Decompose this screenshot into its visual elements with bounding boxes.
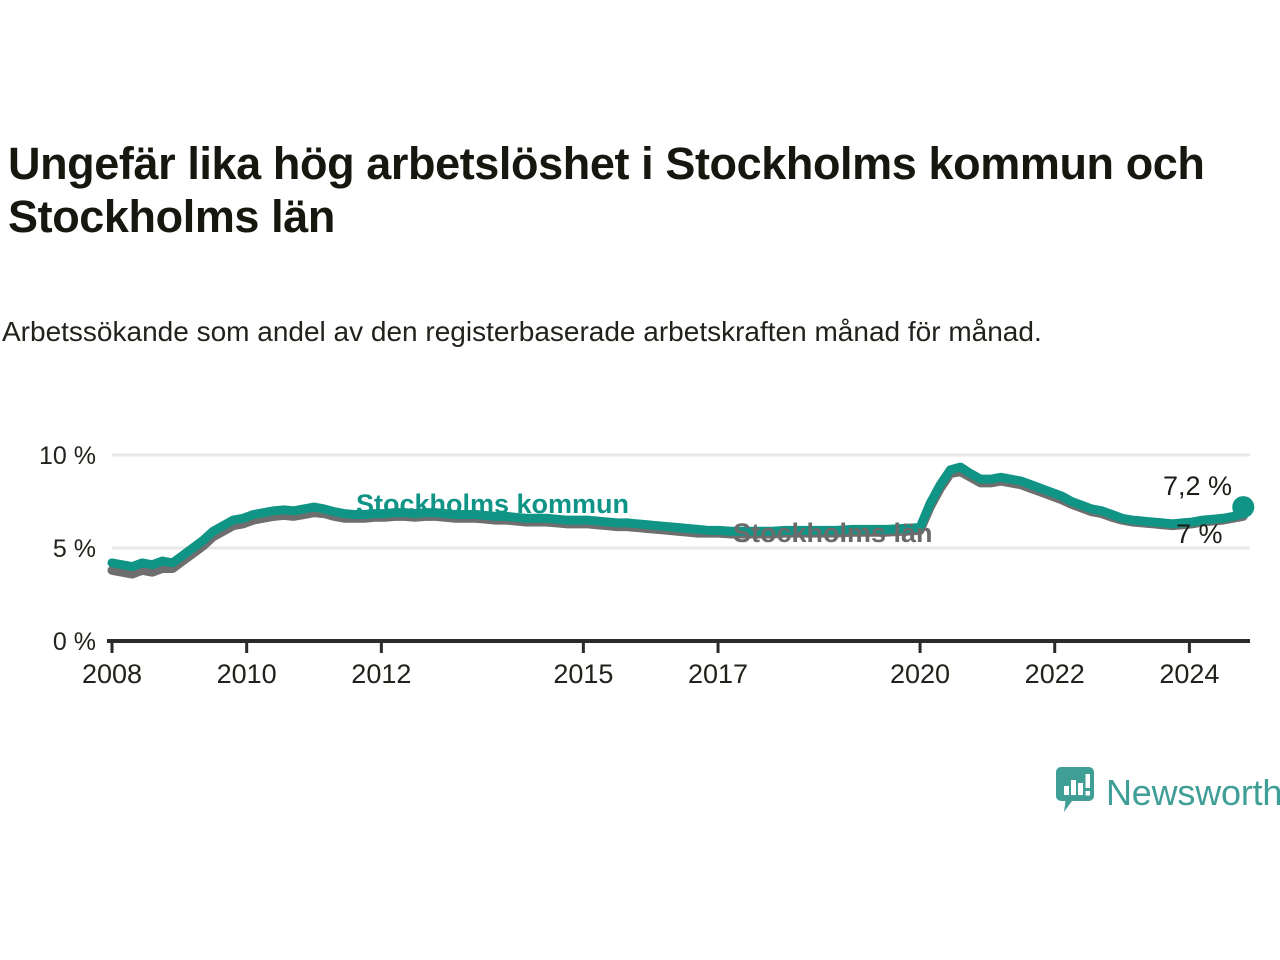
y-axis-labels: 0 %5 %10 % — [39, 442, 96, 656]
chart-plot-area: 0 %5 %10 % 20082010201220152017202020222… — [0, 425, 1280, 695]
chart-page: Ungefär lika hög arbetslöshet i Stockhol… — [0, 0, 1280, 960]
x-axis-tick-label: 2020 — [890, 659, 950, 689]
series-path — [112, 472, 1243, 574]
series-line-stockholms-lan — [112, 472, 1243, 574]
y-axis-tick-label: 5 % — [53, 535, 96, 563]
x-axis-tick-label: 2024 — [1159, 659, 1219, 689]
y-axis-tick-label: 0 % — [53, 628, 96, 656]
series-end-marker — [1232, 496, 1254, 518]
line-chart: 0 %5 %10 % 20082010201220152017202020222… — [0, 425, 1280, 695]
chart-subtitle: Arbetssökande som andel av den registerb… — [2, 313, 1192, 350]
x-axis-tick-label: 2015 — [553, 659, 613, 689]
brand-logo: Newsworthy — [1055, 766, 1280, 819]
y-axis-tick-label: 10 % — [39, 442, 96, 470]
x-axis-tick-label: 2017 — [688, 659, 748, 689]
x-axis-tick-label: 2012 — [351, 659, 411, 689]
x-axis — [107, 641, 1250, 653]
page-title: Ungefär lika hög arbetslöshet i Stockhol… — [8, 138, 1272, 243]
x-axis-labels: 20082010201220152017202020222024 — [82, 659, 1219, 689]
brand-name: Newsworthy — [1106, 775, 1280, 811]
newsworthy-bar-chart-icon — [1055, 766, 1095, 819]
x-axis-tick-label: 2022 — [1025, 659, 1085, 689]
end-value-stockholms-lan: 7 % — [1176, 519, 1223, 549]
end-value-stockholms-kommun: 7,2 % — [1163, 471, 1232, 501]
series-label-stockholms-kommun: Stockholms kommun — [356, 489, 629, 519]
x-axis-tick-label: 2010 — [217, 659, 277, 689]
x-axis-tick-label: 2008 — [82, 659, 142, 689]
series-label-stockholms-lan: Stockholms län — [733, 518, 933, 548]
